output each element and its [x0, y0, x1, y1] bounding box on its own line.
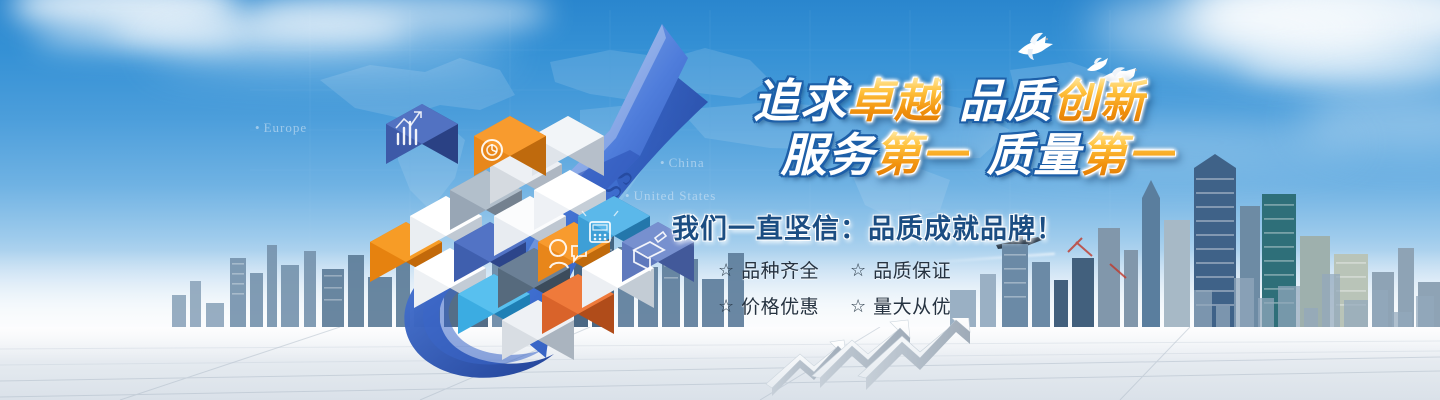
feature-list: ☆品种齐全☆品质保证☆价格优惠☆量大从优	[718, 256, 970, 319]
feature-item: ☆价格优惠	[718, 292, 838, 319]
feature-item: ☆品种齐全	[718, 256, 838, 283]
rubiks-cube-cluster: BUSINESS	[310, 10, 750, 400]
headline-segment: 服务	[781, 128, 875, 182]
headline-block: 追求卓越品质创新 服务第一质量第一	[690, 78, 1210, 178]
feature-label: 品种齐全	[741, 256, 819, 283]
feature-item: ☆量大从优	[850, 292, 970, 319]
star-outline-icon: ☆	[850, 261, 866, 279]
cube	[386, 104, 458, 164]
map-region-label: Europe	[255, 120, 307, 136]
star-outline-icon: ☆	[718, 297, 734, 315]
headline-line-1: 追求卓越品质创新	[690, 78, 1210, 124]
growth-arrow	[760, 318, 990, 400]
headline-segment: 第一	[875, 128, 969, 182]
feature-label: 品质保证	[873, 256, 951, 283]
subheading: 我们一直坚信：品质成就品牌！	[672, 207, 1064, 246]
star-outline-icon: ☆	[850, 297, 866, 315]
headline-segment: 质量	[987, 128, 1081, 182]
feature-label: 量大从优	[873, 292, 951, 319]
headline-segment: 追求	[753, 74, 847, 128]
promo-banner: EuropeChinaUnited StatesAustralia	[0, 0, 1440, 400]
dove-bird	[1012, 30, 1058, 62]
feature-label: 价格优惠	[741, 292, 819, 319]
headline-segment: 品质	[959, 74, 1053, 128]
headline-segment: 卓越	[847, 74, 941, 128]
headline-segment: 第一	[1081, 128, 1175, 182]
headline-segment: 创新	[1053, 74, 1147, 128]
star-outline-icon: ☆	[718, 261, 734, 279]
headline-line-2: 服务第一质量第一	[690, 132, 1210, 178]
feature-item: ☆品质保证	[850, 256, 970, 283]
